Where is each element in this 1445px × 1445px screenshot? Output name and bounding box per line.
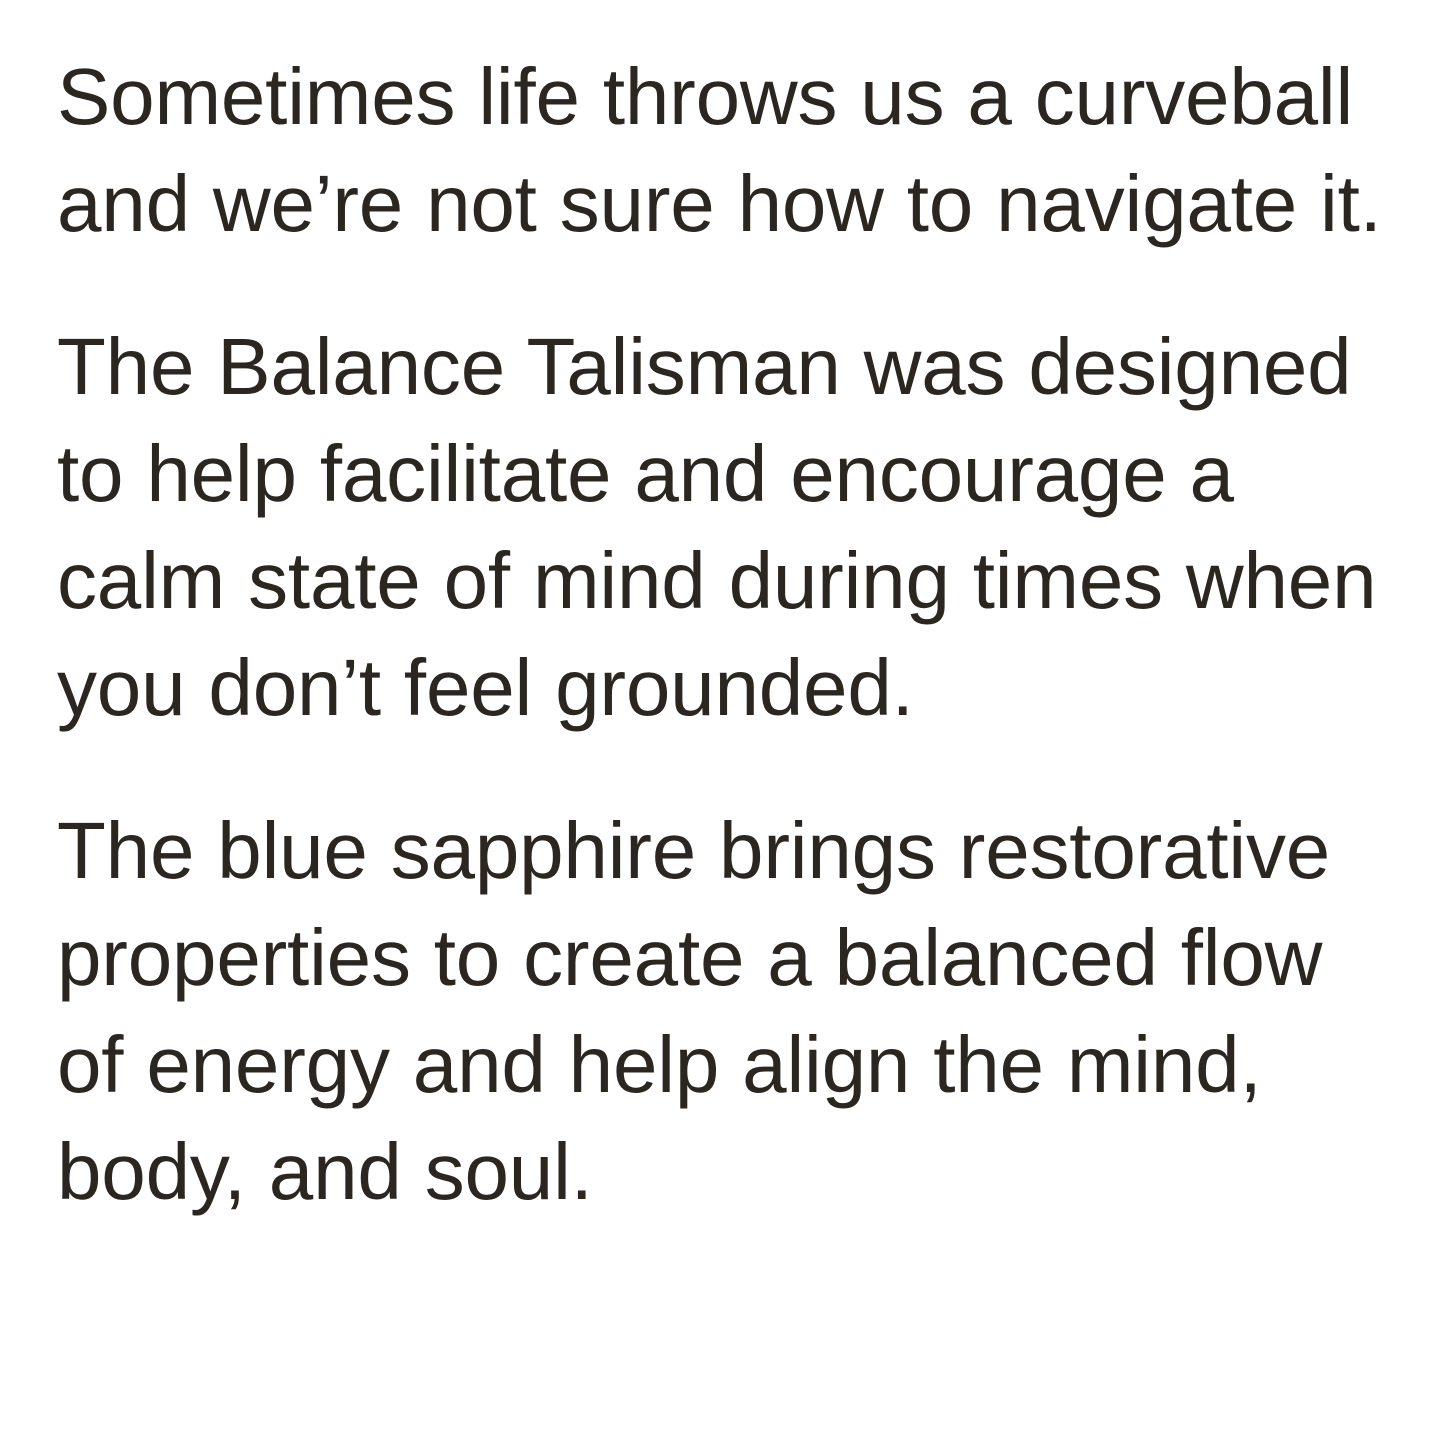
description-paragraph-purpose: The Balance Talisman was designed to hel… (57, 313, 1387, 741)
page-root: Sometimes life throws us a curveball and… (0, 0, 1445, 1445)
description-paragraph-stone-properties: The blue sapphire brings restorative pro… (57, 797, 1387, 1225)
description-paragraph-intro: Sometimes life throws us a curveball and… (57, 43, 1387, 257)
product-description-block: Sometimes life throws us a curveball and… (57, 43, 1387, 1225)
